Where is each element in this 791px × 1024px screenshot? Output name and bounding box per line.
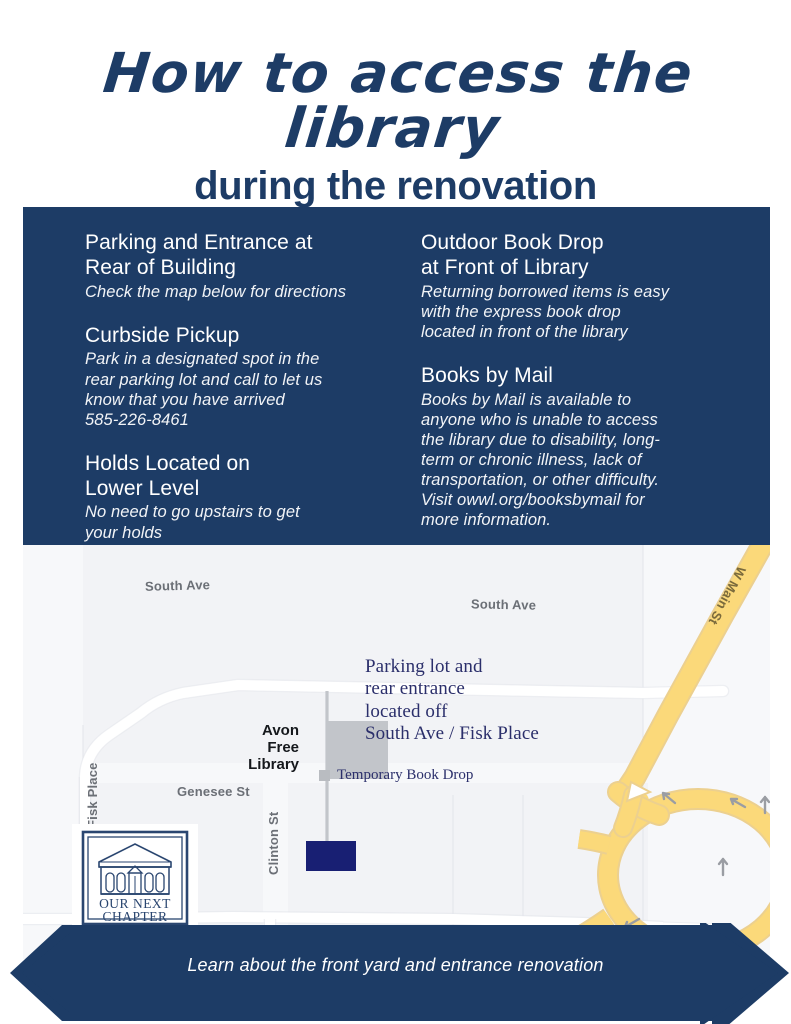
road-label-clinton-st: Clinton St [266, 812, 281, 875]
info-heading: Holds Located on Lower Level [85, 452, 385, 502]
road-label-south-ave-west: South Ave [145, 577, 210, 594]
legend-label: Temporary Book Drop [337, 767, 473, 784]
info-block-parking-entrance: Parking and Entrance at Rear of Building… [85, 231, 385, 302]
road-label-fisk-place: Fisk Place [85, 762, 100, 828]
logo-line-2: CHAPTER [102, 909, 167, 924]
info-heading: Parking and Entrance at Rear of Building [85, 231, 385, 281]
legend-temporary-book-drop: Temporary Book Drop [319, 767, 473, 784]
info-block-outdoor-book-drop: Outdoor Book Drop at Front of Library Re… [421, 231, 721, 342]
infographic-page: How to access the library during the ren… [0, 0, 791, 1024]
info-body: Books by Mail is available to anyone who… [421, 390, 721, 531]
info-block-books-by-mail: Books by Mail Books by Mail is available… [421, 364, 721, 531]
info-block-curbside-pickup: Curbside Pickup Park in a designated spo… [85, 324, 385, 430]
road-label-south-ave-east: South Ave [471, 596, 536, 612]
info-body: No need to go upstairs to get your holds [85, 502, 385, 542]
info-heading: Outdoor Book Drop at Front of Library [421, 231, 721, 281]
info-body: Park in a designated spot in the rear pa… [85, 349, 385, 430]
our-next-chapter-logo: OUR NEXT CHAPTER [72, 824, 198, 932]
info-heading: Books by Mail [421, 364, 721, 389]
page-title: How to access the library during the ren… [0, 46, 791, 206]
renovation-banner-arrow[interactable] [0, 923, 791, 1024]
info-panel: Parking and Entrance at Rear of Building… [23, 207, 770, 545]
info-column-right: Outdoor Book Drop at Front of Library Re… [421, 231, 721, 531]
parking-annotation: Parking lot and rear entrance located of… [365, 656, 539, 746]
info-body: Check the map below for directions [85, 282, 385, 302]
info-block-holds-lower-level: Holds Located on Lower Level No need to … [85, 452, 385, 543]
info-body: Returning borrowed items is easy with th… [421, 282, 721, 342]
library-building-shape [306, 841, 356, 871]
road-label-genesee-st: Genesee St [177, 784, 250, 799]
library-name-label: Avon Free Library [211, 723, 299, 773]
title-sub-line: during the renovation [0, 166, 791, 206]
book-drop-swatch-icon [319, 770, 330, 781]
library-building-logo-icon: OUR NEXT CHAPTER [79, 829, 191, 927]
info-heading: Curbside Pickup [85, 324, 385, 349]
title-script-line: How to access the library [0, 46, 791, 156]
info-column-left: Parking and Entrance at Rear of Building… [85, 231, 385, 543]
